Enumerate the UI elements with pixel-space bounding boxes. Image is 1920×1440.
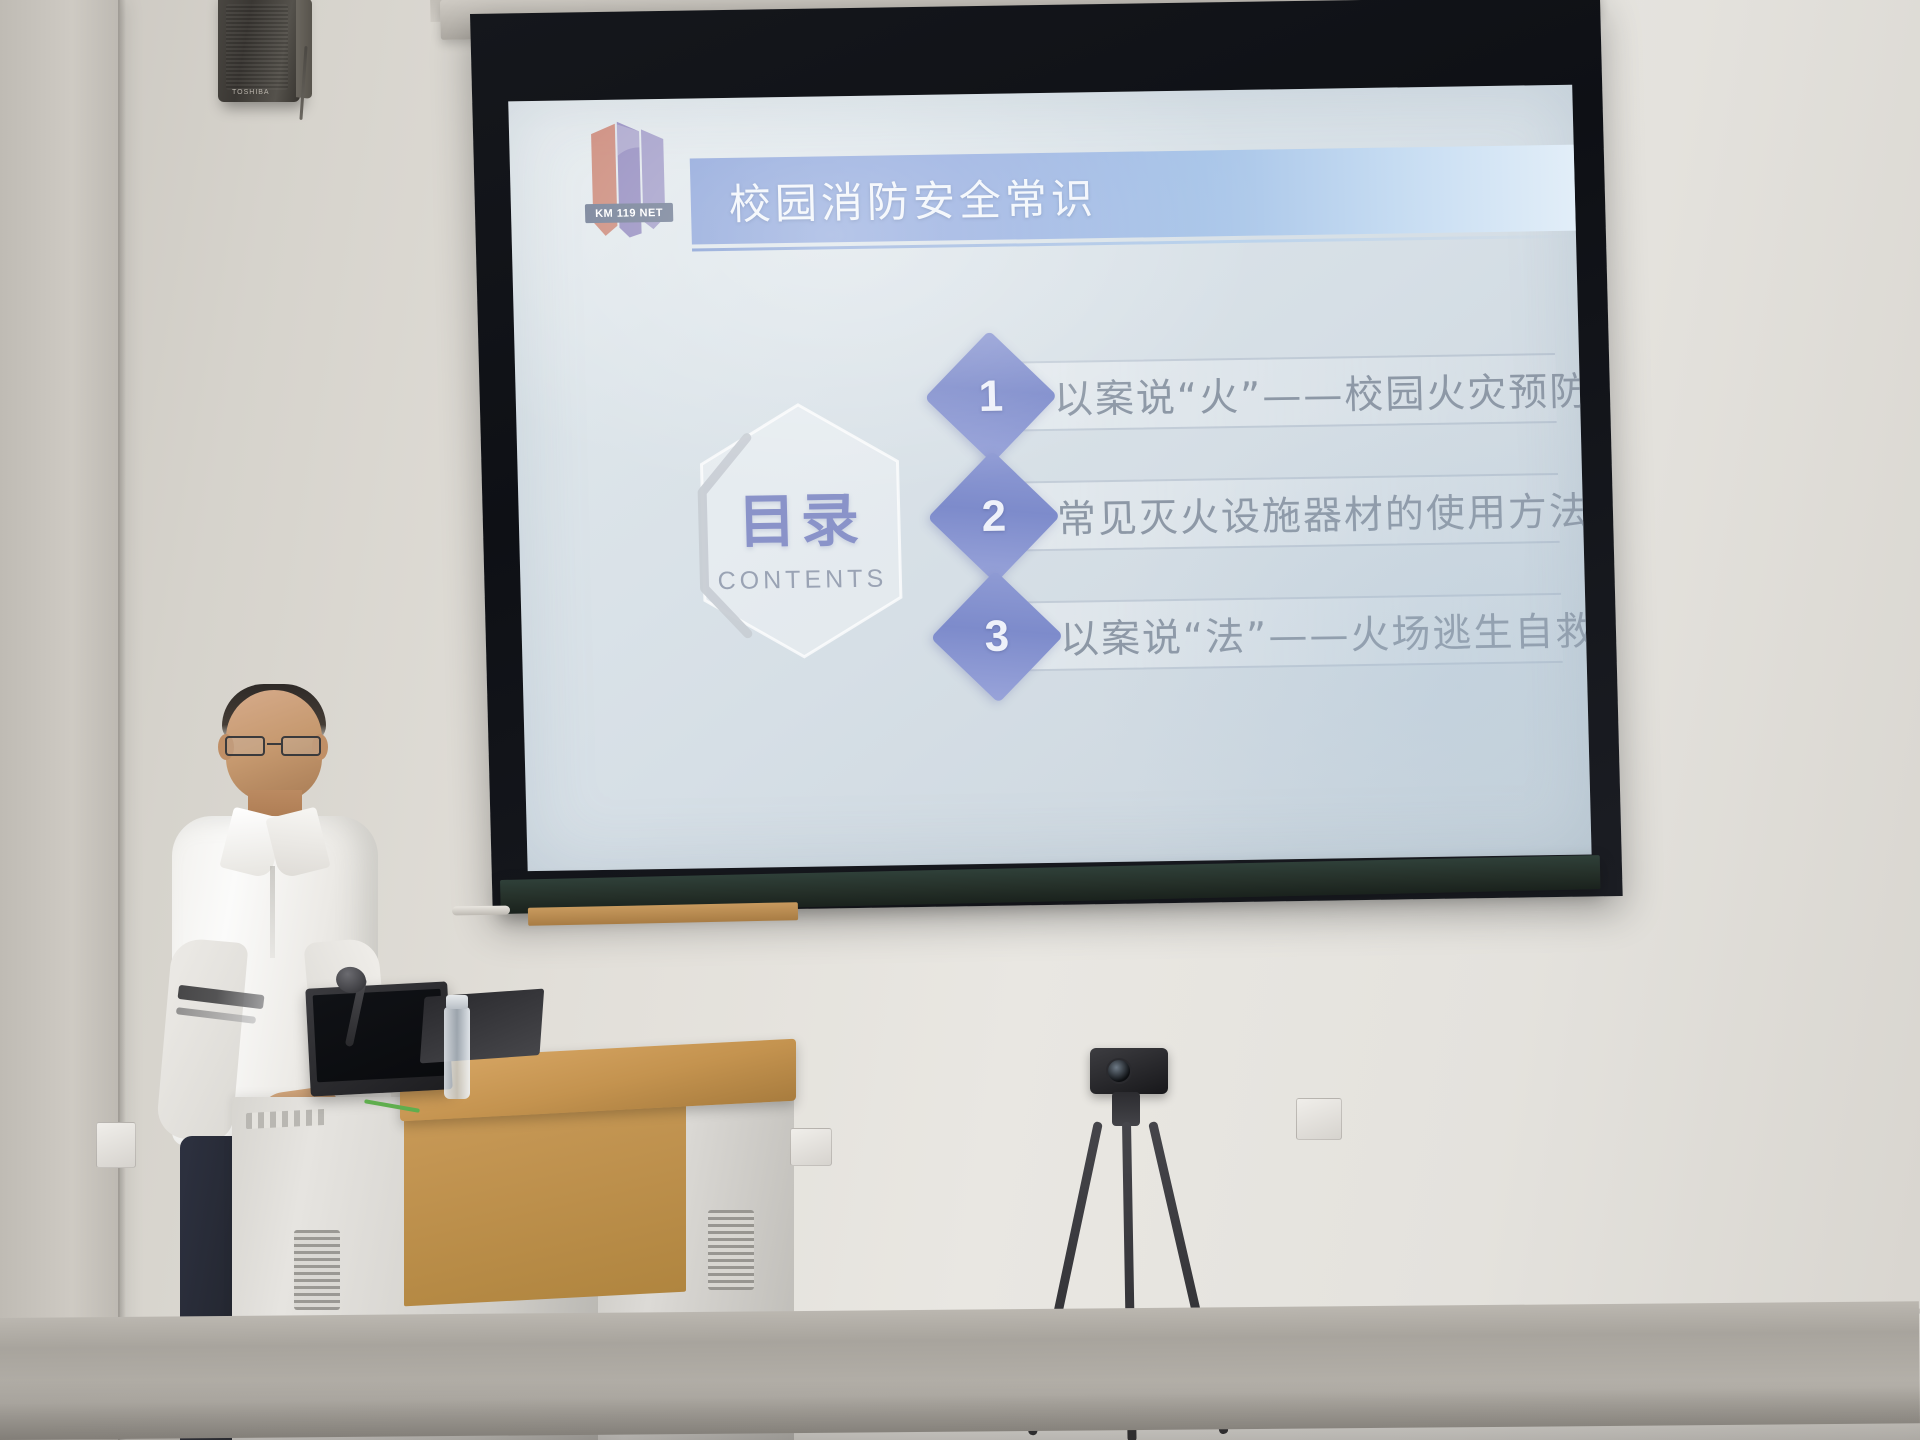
slide-title: 校园消防安全常识 [728, 165, 1098, 232]
speaker-grille-icon [226, 4, 288, 90]
presenter-shirt-placket [270, 866, 275, 958]
wall-outlet [790, 1128, 832, 1166]
table-of-contents: 1 以案说“火”——校园火灾预防 2 常见灭火设施器材的使用方法 3 以案说“法… [935, 335, 1564, 705]
toc-item-label: 常见灭火设施器材的使用方法 [1056, 479, 1559, 547]
speaker-brand-label: TOSHIBA [232, 89, 270, 96]
wall-seam [118, 0, 126, 1440]
water-bottle [444, 1007, 470, 1099]
logo-tag-text: KM 119 NET [595, 206, 663, 219]
camera-lens-icon [1106, 1058, 1132, 1084]
lectern-vent-right [708, 1210, 754, 1290]
toc-item-label: 以案说“法”——火场逃生自救 [1059, 599, 1562, 667]
toc-item-label: 以案说“火”——校园火灾预防 [1053, 359, 1556, 427]
contents-badge-english: CONTENTS [717, 564, 887, 596]
speaker-cabinet: TOSHIBA [218, 0, 300, 102]
wall-outlet [96, 1122, 136, 1168]
tripod-head [1112, 1092, 1140, 1126]
slide-surface: KM 119 NET 校园消防安全常识 目录 CONTENTS [508, 85, 1591, 871]
classroom-scene: TOSHIBA KM 119 NET [0, 0, 1920, 1440]
toc-item[interactable]: 1 以案说“火”——校园火灾预防 [935, 335, 1558, 465]
presentation-slide: KM 119 NET 校园消防安全常识 目录 CONTENTS [508, 85, 1591, 871]
water-bottle-cap [446, 995, 468, 1009]
toc-item-number: 1 [943, 349, 1039, 444]
eyeglasses-icon [224, 736, 324, 756]
toc-item[interactable]: 2 常见灭火设施器材的使用方法 [938, 455, 1561, 585]
toc-item-number: 2 [946, 469, 1042, 564]
contents-hexagon-badge: 目录 CONTENTS [684, 395, 919, 666]
logo-tag: KM 119 NET [585, 203, 673, 223]
toc-item[interactable]: 3 以案说“法”——火场逃生自救 [941, 575, 1564, 705]
slide-title-bar: 校园消防安全常识 [690, 145, 1576, 245]
contents-badge-chinese: 目录 [737, 472, 865, 558]
wall-speaker: TOSHIBA [218, 0, 318, 109]
projection-screen[interactable]: KM 119 NET 校园消防安全常识 目录 CONTENTS [470, 0, 1623, 914]
screen-pull-handle[interactable] [452, 905, 510, 915]
floor-shadow [0, 1380, 1920, 1440]
toc-item-number: 3 [949, 589, 1045, 684]
lectern-vent-left [294, 1230, 340, 1310]
km-119-net-shield-logo: KM 119 NET [581, 117, 676, 244]
wall-outlet [1296, 1098, 1342, 1140]
left-wall-column [0, 0, 120, 1440]
lectern-wood-face [404, 1092, 686, 1307]
laptop[interactable] [420, 989, 544, 1064]
